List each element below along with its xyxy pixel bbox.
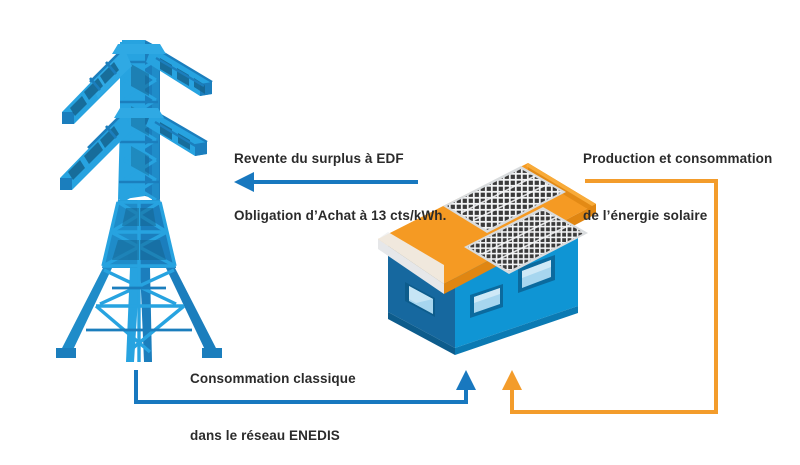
label-surplus-to-grid: Revente du surplus à EDF Obligation d’Ac… (234, 111, 446, 263)
label-solar-line1: Production et consommation (583, 149, 772, 168)
label-solar-line2: de l’énergie solaire (583, 206, 772, 225)
label-surplus-line1: Revente du surplus à EDF (234, 149, 446, 168)
pylon-mid-section (102, 200, 176, 268)
label-solar-production: Production et consommation de l’énergie … (583, 111, 772, 263)
label-grid-consumption: Consommation classique dans le réseau EN… (190, 331, 356, 465)
label-enedis-line2: dans le réseau ENEDIS (190, 426, 356, 445)
diagram-canvas: Revente du surplus à EDF Obligation d’Ac… (0, 0, 800, 465)
electricity-pylon-icon (56, 40, 222, 362)
label-surplus-line2: Obligation d’Achat à 13 cts/kWh. (234, 206, 446, 225)
label-enedis-line1: Consommation classique (190, 369, 356, 388)
